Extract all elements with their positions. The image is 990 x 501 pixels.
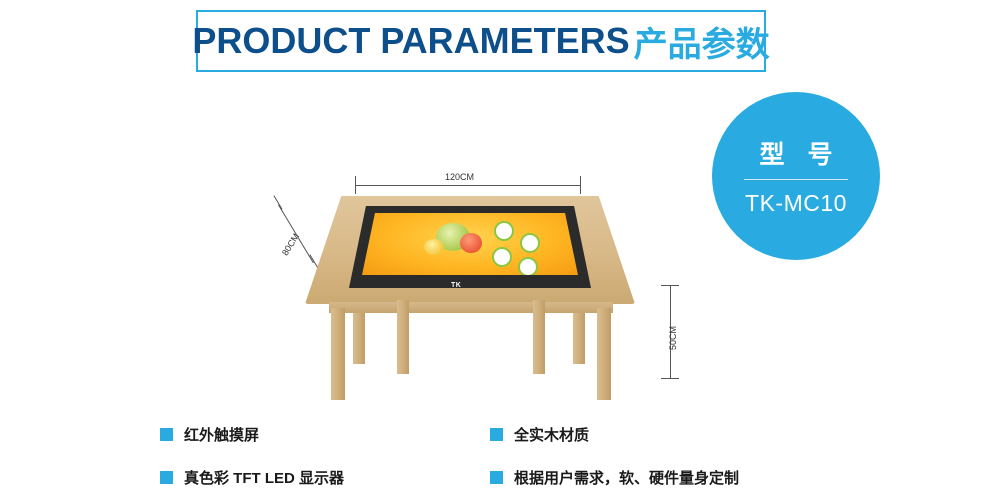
feature-label: 全实木材质 xyxy=(514,424,589,445)
feature-item: 全实木材质 xyxy=(490,424,900,445)
table-leg-mid-left xyxy=(397,300,409,374)
height-dimension-label: 50CM xyxy=(668,326,678,350)
square-bullet-icon xyxy=(160,471,173,484)
square-bullet-icon xyxy=(160,428,173,441)
feature-label: 红外触摸屏 xyxy=(184,424,259,445)
tk-brand-logo: TK xyxy=(451,282,461,289)
feature-label: 根据用户需求，软、硬件量身定制 xyxy=(514,467,739,488)
menu-ring-icon-2 xyxy=(520,233,540,253)
model-badge-value: TK-MC10 xyxy=(745,190,847,217)
product-illustration: 120CM 80CM 50CM TK xyxy=(260,160,710,410)
width-dimension-label: 120CM xyxy=(445,172,474,182)
menu-ring-icon-1 xyxy=(494,221,514,241)
interactive-table-graphic: TK xyxy=(305,196,635,406)
height-dimension-tick-top xyxy=(661,285,679,286)
food-graphic-3 xyxy=(424,239,444,255)
depth-dimension-tick-top xyxy=(273,195,282,209)
model-badge-label: 型 号 xyxy=(752,135,841,171)
width-dimension-tick-right xyxy=(580,176,581,194)
table-apron-front xyxy=(329,302,613,313)
depth-dimension-label: 80CM xyxy=(280,232,301,258)
height-dimension-tick-bottom xyxy=(661,378,679,379)
feature-list: 红外触摸屏 全实木材质 真色彩 TFT LED 显示器 根据用户需求，软、硬件量… xyxy=(160,424,900,488)
feature-item: 红外触摸屏 xyxy=(160,424,490,445)
header-title-box: PRODUCT PARAMETERS 产品参数 xyxy=(196,10,766,72)
table-screen-display xyxy=(362,213,578,275)
model-badge-divider xyxy=(744,179,848,180)
menu-ring-icon-4 xyxy=(518,257,538,275)
model-badge: 型 号 TK-MC10 xyxy=(712,92,880,260)
page-header: PRODUCT PARAMETERS 产品参数 xyxy=(0,0,990,80)
page-title-chinese: 产品参数 xyxy=(634,17,770,66)
page-title-english: PRODUCT PARAMETERS xyxy=(192,20,629,62)
table-leg-front-right xyxy=(597,308,611,400)
width-dimension-line xyxy=(355,185,580,186)
menu-ring-icon-3 xyxy=(492,247,512,267)
feature-item: 根据用户需求，软、硬件量身定制 xyxy=(490,467,900,488)
square-bullet-icon xyxy=(490,428,503,441)
feature-label: 真色彩 TFT LED 显示器 xyxy=(184,467,344,488)
feature-item: 真色彩 TFT LED 显示器 xyxy=(160,467,490,488)
square-bullet-icon xyxy=(490,471,503,484)
table-leg-mid-right xyxy=(533,300,545,374)
table-leg-front-left xyxy=(331,308,345,400)
width-dimension-tick-left xyxy=(355,176,356,194)
food-graphic-2 xyxy=(460,233,482,253)
